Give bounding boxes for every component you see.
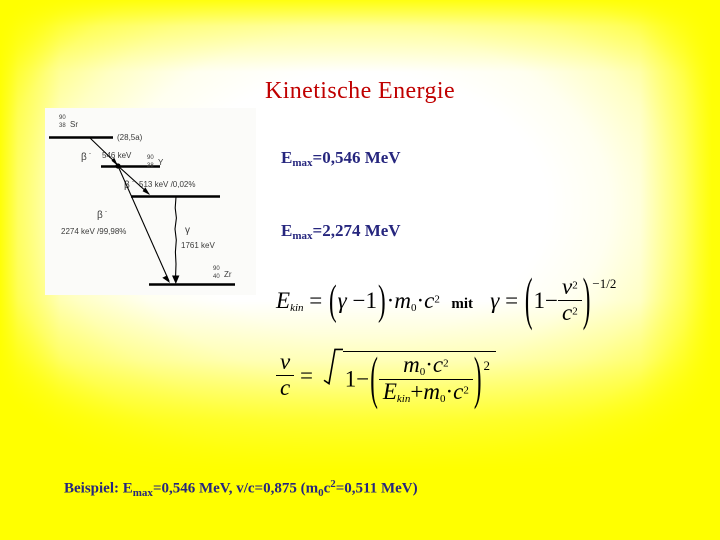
close-paren-big-icon: ) [582,267,592,333]
emax-symbol: E [281,148,292,167]
fraction-denominator: c2 [558,300,582,326]
example-line: Beispiel: Emax=0,546 MeV, v/c=0,875 (m0c… [64,478,418,499]
formula1-one: 1 [365,288,377,313]
emax-label-beta1: Emax=0,546 MeV [281,148,401,169]
slide-title: Kinetische Energie [0,78,720,105]
open-paren-big-icon: ( [524,267,534,333]
example-rest: =0,511 MeV) [336,481,418,497]
fraction-numerator: v2 [558,275,582,300]
formula1-m: m [394,288,411,313]
emax-symbol: E [281,221,292,240]
emax-value: 2,274 [322,221,360,240]
svg-text:40: 40 [213,274,220,280]
emax-subscript: max [292,157,312,169]
formula1-den-c: c [562,300,572,325]
formula2-v: v [280,349,290,374]
close-paren-icon: ) [377,277,387,325]
gamma-symbol: γ [185,225,190,236]
formula1-v: v [562,274,572,299]
formula1-fraction: v2c2 [558,275,582,326]
svg-text:Zr: Zr [224,270,232,279]
svg-text:38: 38 [59,123,66,129]
example-E-sub: max [133,487,153,499]
emax-unit: MeV [365,221,401,240]
formula1-E: E [276,288,290,313]
beta-symbol-1: β [81,152,87,163]
open-paren-big-icon: ( [369,346,379,412]
formula2-inner-fraction: m0·c2Ekin+m0·c2 [379,353,473,406]
formula2-vc-fraction: vc [276,350,294,401]
formula2-c: c [280,375,290,400]
formula1-minus: − [353,288,366,313]
emax-equals: = [313,221,323,240]
emax-label-beta2: Emax=2,274 MeV [281,221,401,242]
formula1-gamma-lhs: γ [490,288,499,313]
formula2-den-m: m [423,379,440,404]
formula2-den-E: E [383,379,397,404]
formula2-num-dot: · [425,352,433,377]
svg-text:38: 38 [147,163,154,169]
emax-unit: MeV [365,148,401,167]
formula2-den-c: c [453,379,463,404]
close-paren-big-icon: ) [473,346,483,412]
formula2-squared: 2 [484,358,491,373]
decay-scheme-figure: 90 38 Sr (28,5a) β - 546 keV 90 38 Y [45,108,256,295]
formula2-one: 1 [345,367,357,392]
formula1-den-c-exp: 2 [572,305,578,317]
formula1-rhs-one: 1 [534,288,546,313]
energy-513: 513 keV /0,02% [139,180,195,189]
formula1-rhs-minus: − [545,288,558,313]
halflife-label: (28,5a) [117,133,143,142]
formula2-num-c-exp: 2 [443,357,449,369]
fraction-numerator: m0·c2 [379,353,473,379]
energy-2274: 2274 keV /99,98% [61,227,126,236]
formula2-num-c: c [433,352,443,377]
svg-text:Y: Y [158,158,164,167]
example-m: m [306,481,319,497]
formula2-num-m: m [403,352,420,377]
formula1-connector: mit [451,296,473,312]
example-values: =0,546 MeV, v/c=0,875 ( [153,481,306,497]
formula1-outer-exponent: −1/2 [592,276,616,291]
example-E: E [123,481,133,497]
formula2-radical: 1−(m0·c2Ekin+m0·c2)2 [323,348,496,408]
formula-velocity-ratio: vc = 1−(m0·c2Ekin+m0·c2)2 [276,348,496,408]
formula-kinetic-energy: Ekin = (γ −1)·m0·c2 mit γ = (1−v2c2)−1/2 [276,276,616,328]
example-prefix: Beispiel: [64,481,123,497]
emax-subscript: max [292,230,312,242]
formula1-c: c [424,288,434,313]
formula1-E-sub: kin [290,302,303,314]
formula1-v-exp: 2 [572,280,578,292]
formula1-c-exp: 2 [434,293,440,305]
svg-text:90: 90 [147,155,154,161]
emax-equals: = [313,148,323,167]
formula1-gamma-equals: = [505,288,518,313]
square-root-icon [323,346,343,406]
formula1-gamma: γ [338,288,347,313]
energy-1761: 1761 keV [181,241,215,250]
svg-text:90: 90 [213,266,220,272]
fraction-denominator: Ekin+m0·c2 [379,379,473,406]
emax-value: 0,546 [322,148,360,167]
formula2-den-dot: · [445,379,453,404]
formula2-radicand: 1−(m0·c2Ekin+m0·c2)2 [343,351,496,408]
svg-text:-: - [89,151,91,157]
formula1-equals: = [309,288,322,313]
formula2-den-plus: + [410,379,423,404]
energy-546: 546 keV [102,151,132,160]
svg-text:-: - [105,209,107,215]
fraction-denominator: c [276,375,294,401]
formula2-equals: = [300,363,313,388]
formula2-den-E-sub: kin [397,393,410,405]
slide-canvas: Kinetische Energie 90 38 Sr (28,5a) β - … [0,0,720,540]
formula1-dot2: · [416,288,424,313]
formula2-minus: − [356,367,369,392]
beta-symbol-3: β [97,210,103,221]
svg-text:90: 90 [59,115,66,121]
svg-text:Sr: Sr [70,120,78,129]
formula2-den-c-exp: 2 [463,384,469,396]
fraction-numerator: v [276,350,294,375]
open-paren-icon: ( [328,277,338,325]
